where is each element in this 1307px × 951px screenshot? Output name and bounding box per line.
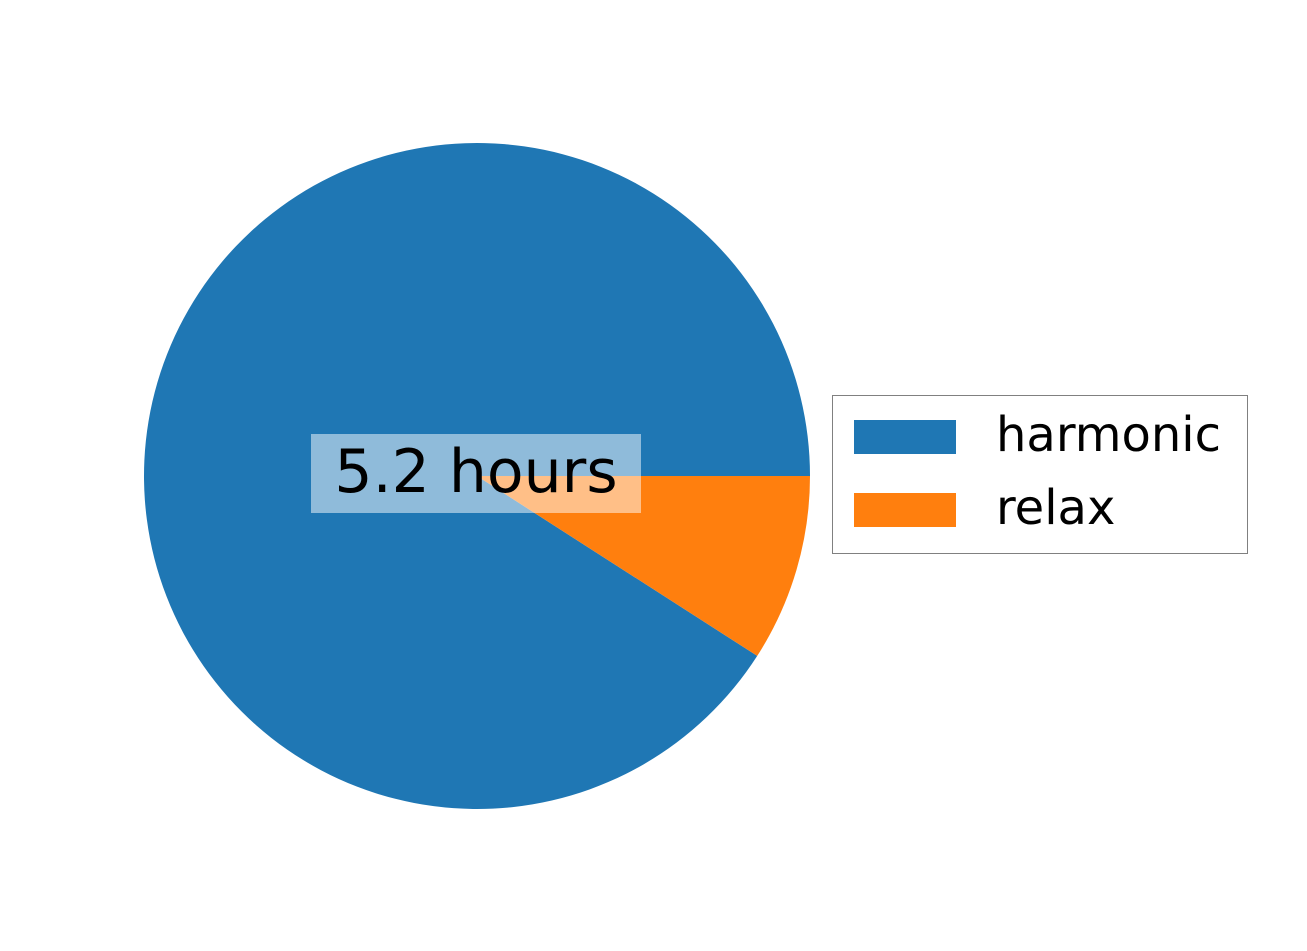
legend-label-harmonic: harmonic — [996, 411, 1221, 459]
legend-label-relax: relax — [996, 484, 1115, 532]
chart-legend: harmonic relax — [832, 395, 1248, 554]
legend-swatch-relax — [854, 493, 956, 527]
legend-item-harmonic[interactable]: harmonic — [833, 408, 1247, 466]
pie-center-value-label: 5.2 hours — [311, 434, 641, 513]
legend-item-relax[interactable]: relax — [833, 481, 1247, 539]
legend-swatch-harmonic — [854, 420, 956, 454]
pie-chart-figure: 5.2 hours harmonic relax — [0, 0, 1307, 951]
